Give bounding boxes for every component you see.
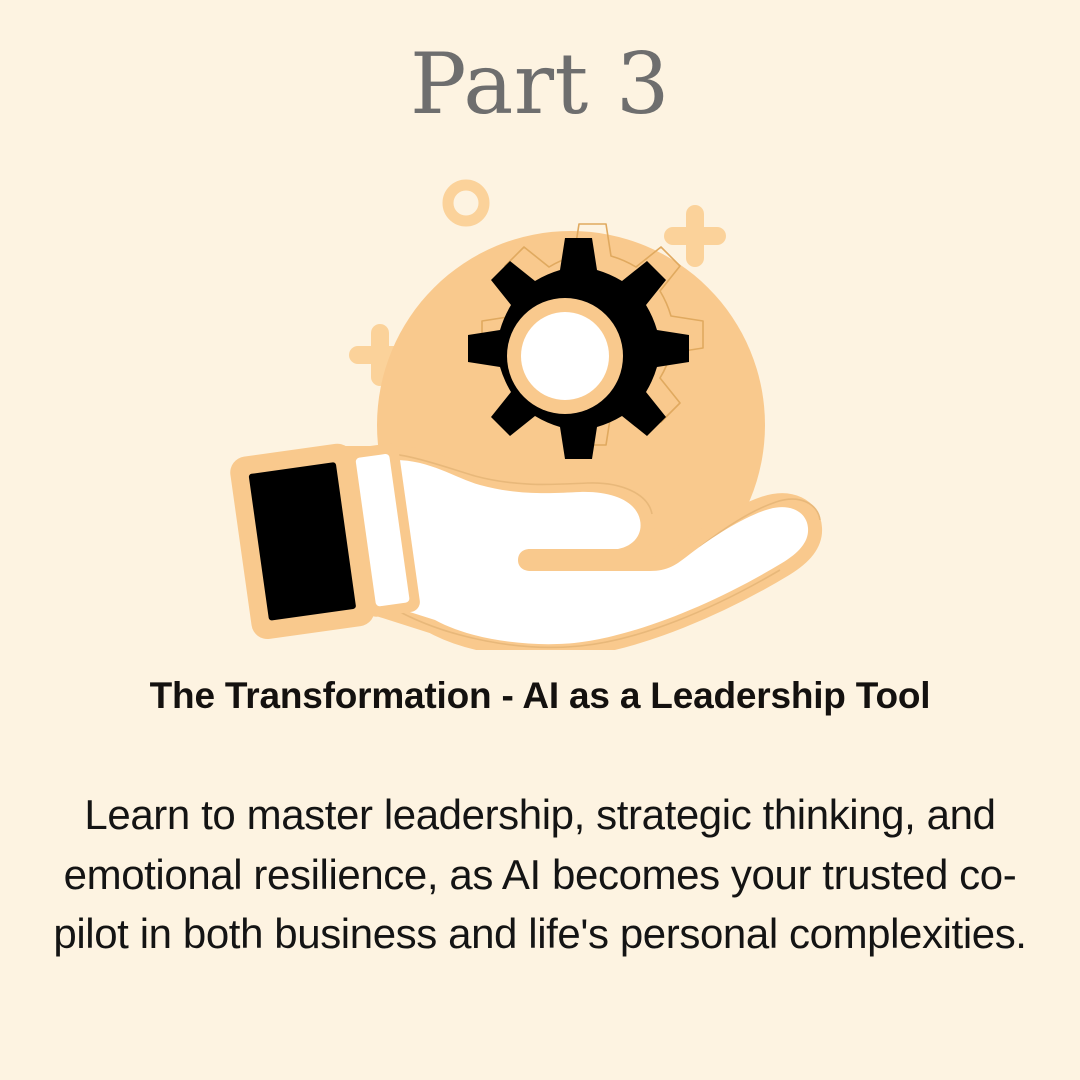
page-title: The Transformation - AI as a Leadership … (60, 675, 1020, 718)
part-label: Part 3 (0, 42, 1080, 126)
plus-accent-icon-top-right (664, 205, 726, 267)
slide-root: Part 3 (0, 0, 1080, 1080)
ring-accent-icon (448, 185, 484, 221)
gear-icon (468, 238, 689, 459)
illustration-container (0, 160, 1080, 650)
illustration-svg (0, 160, 1080, 650)
sleeve-cuff (228, 435, 422, 641)
body-paragraph: Learn to master leadership, strategic th… (45, 785, 1035, 964)
